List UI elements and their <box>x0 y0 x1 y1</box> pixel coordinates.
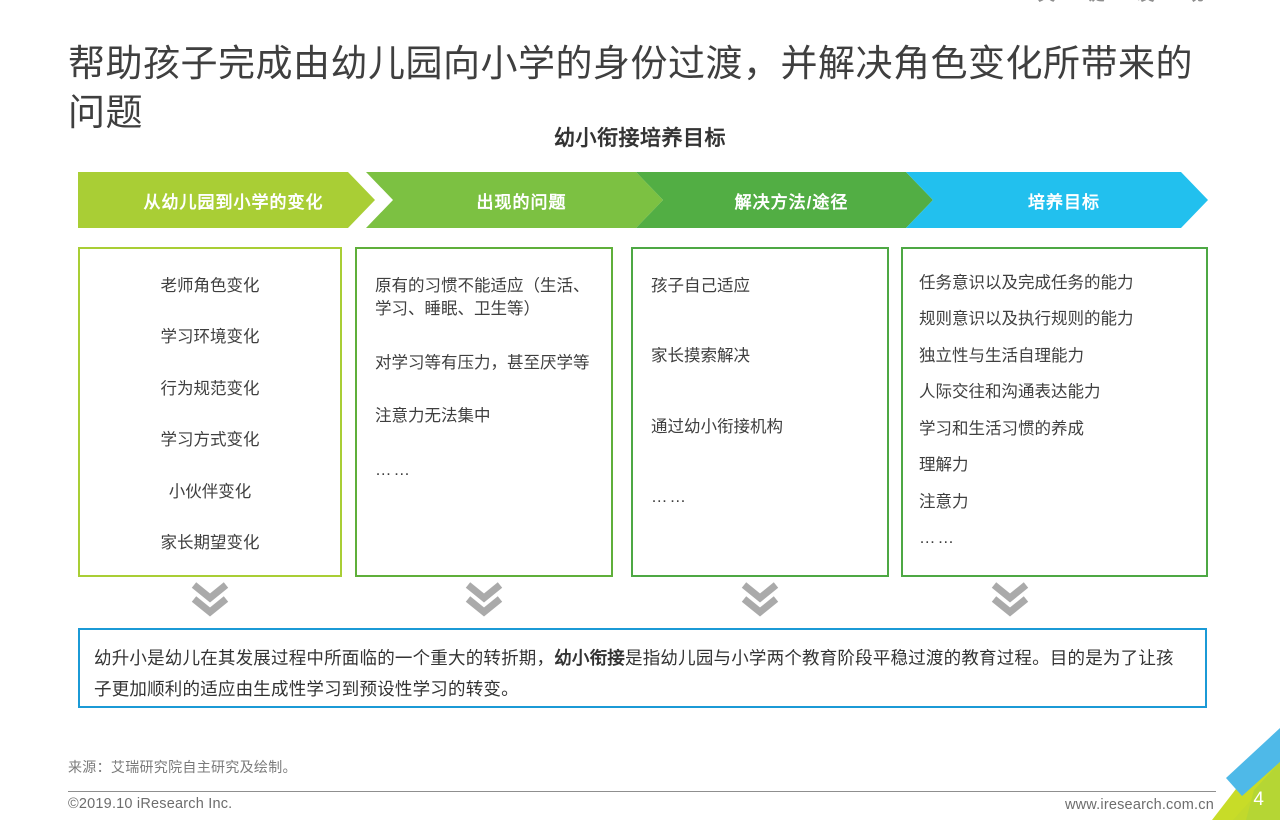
page-number: 4 <box>1253 789 1264 811</box>
list-item: 小伙伴变化 <box>98 481 322 504</box>
list-item: 理解力 <box>919 454 1188 477</box>
callout-emphasis: 幼小衔接 <box>554 648 625 668</box>
callout-lead: 幼升小是幼儿在其发展过程中所面临的一个重大的转折期， <box>94 648 554 668</box>
stage-header-row: 从幼儿园到小学的变化 出现的问题 解决方法/途径 培养目标 <box>78 172 1208 228</box>
summary-callout-text: 幼升小是幼儿在其发展过程中所面临的一个重大的转折期，幼小衔接是指幼儿园与小学两个… <box>94 643 1187 704</box>
double-chevron-down-icon <box>188 580 232 618</box>
list-item: 家长期望变化 <box>98 532 322 555</box>
list-item: 学习环境变化 <box>98 326 322 349</box>
stage-header-label: 从幼儿园到小学的变化 <box>130 188 324 213</box>
stage-item-list: 孩子自己适应 家长摸索解决 通过幼小衔接机构 …… <box>651 275 869 510</box>
list-item: 孩子自己适应 <box>651 275 869 298</box>
list-item: 独立性与生活自理能力 <box>919 345 1188 368</box>
clipped-header-text: 关 键 发 现 <box>1038 0 1218 2</box>
stage-box-2: 孩子自己适应 家长摸索解决 通过幼小衔接机构 …… <box>631 247 889 577</box>
list-item: 原有的习惯不能适应（生活、学习、睡眠、卫生等） <box>375 275 593 322</box>
list-item: 通过幼小衔接机构 <box>651 416 869 439</box>
list-item: 规则意识以及执行规则的能力 <box>919 308 1188 331</box>
list-item-ellipsis: …… <box>919 527 1188 550</box>
stage-content-row: 老师角色变化 学习环境变化 行为规范变化 学习方式变化 小伙伴变化 家长期望变化… <box>78 247 1208 577</box>
stage-header-0[interactable]: 从幼儿园到小学的变化 <box>78 172 375 228</box>
stage-header-1[interactable]: 出现的问题 <box>366 172 663 228</box>
summary-callout: 幼升小是幼儿在其发展过程中所面临的一个重大的转折期，幼小衔接是指幼儿园与小学两个… <box>78 628 1207 708</box>
double-chevron-down-icon <box>738 580 782 618</box>
corner-logo-decoration <box>1190 728 1280 820</box>
stage-box-3: 任务意识以及完成任务的能力 规则意识以及执行规则的能力 独立性与生活自理能力 人… <box>901 247 1208 577</box>
list-item: 家长摸索解决 <box>651 345 869 368</box>
stage-box-1: 原有的习惯不能适应（生活、学习、睡眠、卫生等） 对学习等有压力，甚至厌学等 注意… <box>355 247 613 577</box>
list-item: 学习和生活习惯的养成 <box>919 418 1188 441</box>
stage-header-label: 出现的问题 <box>463 188 567 213</box>
chart-title: 幼小衔接培养目标 <box>0 122 1280 152</box>
list-item: 学习方式变化 <box>98 429 322 452</box>
list-item: 对学习等有压力，甚至厌学等 <box>375 352 593 375</box>
list-item: 老师角色变化 <box>98 275 322 298</box>
stage-header-2[interactable]: 解决方法/途径 <box>636 172 933 228</box>
list-item: 人际交往和沟通表达能力 <box>919 381 1188 404</box>
stage-box-0: 老师角色变化 学习环境变化 行为规范变化 学习方式变化 小伙伴变化 家长期望变化 <box>78 247 342 577</box>
stage-header-label: 培养目标 <box>1014 188 1100 213</box>
double-chevron-down-icon <box>988 580 1032 618</box>
down-arrow-row <box>78 580 1208 620</box>
list-item: 注意力 <box>919 491 1188 514</box>
source-note: 来源：艾瑞研究院自主研究及绘制。 <box>68 757 297 777</box>
copyright-text: ©2019.10 iResearch Inc. <box>68 796 232 812</box>
stage-item-list: 老师角色变化 学习环境变化 行为规范变化 学习方式变化 小伙伴变化 家长期望变化 <box>98 275 322 556</box>
list-item: 任务意识以及完成任务的能力 <box>919 272 1188 295</box>
stage-header-3[interactable]: 培养目标 <box>906 172 1208 228</box>
list-item: 行为规范变化 <box>98 378 322 401</box>
list-item: 注意力无法集中 <box>375 405 593 428</box>
stage-item-list: 原有的习惯不能适应（生活、学习、睡眠、卫生等） 对学习等有压力，甚至厌学等 注意… <box>375 275 593 482</box>
footer-divider <box>68 791 1216 792</box>
list-item-ellipsis: …… <box>375 459 593 482</box>
double-chevron-down-icon <box>462 580 506 618</box>
list-item-ellipsis: …… <box>651 486 869 509</box>
stage-item-list: 任务意识以及完成任务的能力 规则意识以及执行规则的能力 独立性与生活自理能力 人… <box>919 272 1188 550</box>
stage-header-label: 解决方法/途径 <box>721 188 849 213</box>
